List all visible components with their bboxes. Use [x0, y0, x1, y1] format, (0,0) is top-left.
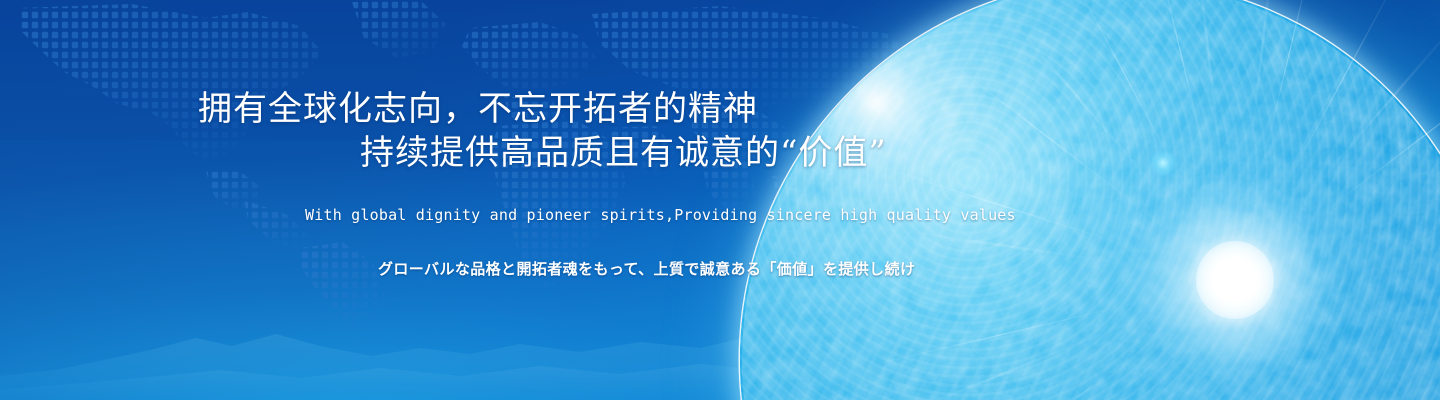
philosophy-banner: 拥有全球化志向，不忘开拓者的精神 持续提供高品质且有诚意的“价值” With g… [0, 0, 1440, 400]
planet-texture [740, 0, 1440, 400]
sun-halo-hot [1196, 241, 1274, 319]
sun-halo-warm-ring [1085, 130, 1385, 400]
lens-flare-ring-small [1232, 258, 1440, 400]
subtitle-japanese: グローバルな品格と開拓者魂をもって、上質で誠意ある「価値」を提供し続け [378, 260, 915, 278]
planet-rim-glow [738, 0, 1440, 400]
sun-rays-icon [785, 0, 1440, 400]
planet-surface [740, 0, 1440, 400]
mountain-ridge-silhouette-icon [0, 290, 1260, 400]
lens-flare-dot-icon [1146, 146, 1180, 180]
sun-halo-mid [1135, 180, 1335, 380]
sun-halo-wide [975, 20, 1440, 400]
planet-cloud-speckle [740, 0, 1440, 400]
sky-lower-glow [0, 140, 1224, 400]
headline-line-2: 持续提供高品质且有诚意的“价值” [360, 136, 887, 170]
subtitle-english: With global dignity and pioneer spirits,… [305, 206, 1016, 224]
banner-copy: 拥有全球化志向，不忘开拓者的精神 持续提供高品质且有诚意的“价值” With g… [0, 0, 1040, 400]
headline-line-1: 拥有全球化志向，不忘开拓者的精神 [198, 92, 758, 126]
sky-top-shade [0, 0, 1440, 232]
planet-earth-icon [740, 0, 1440, 400]
world-map-dots-icon [0, 0, 1080, 330]
lens-flare-ring-large [1098, 138, 1428, 400]
